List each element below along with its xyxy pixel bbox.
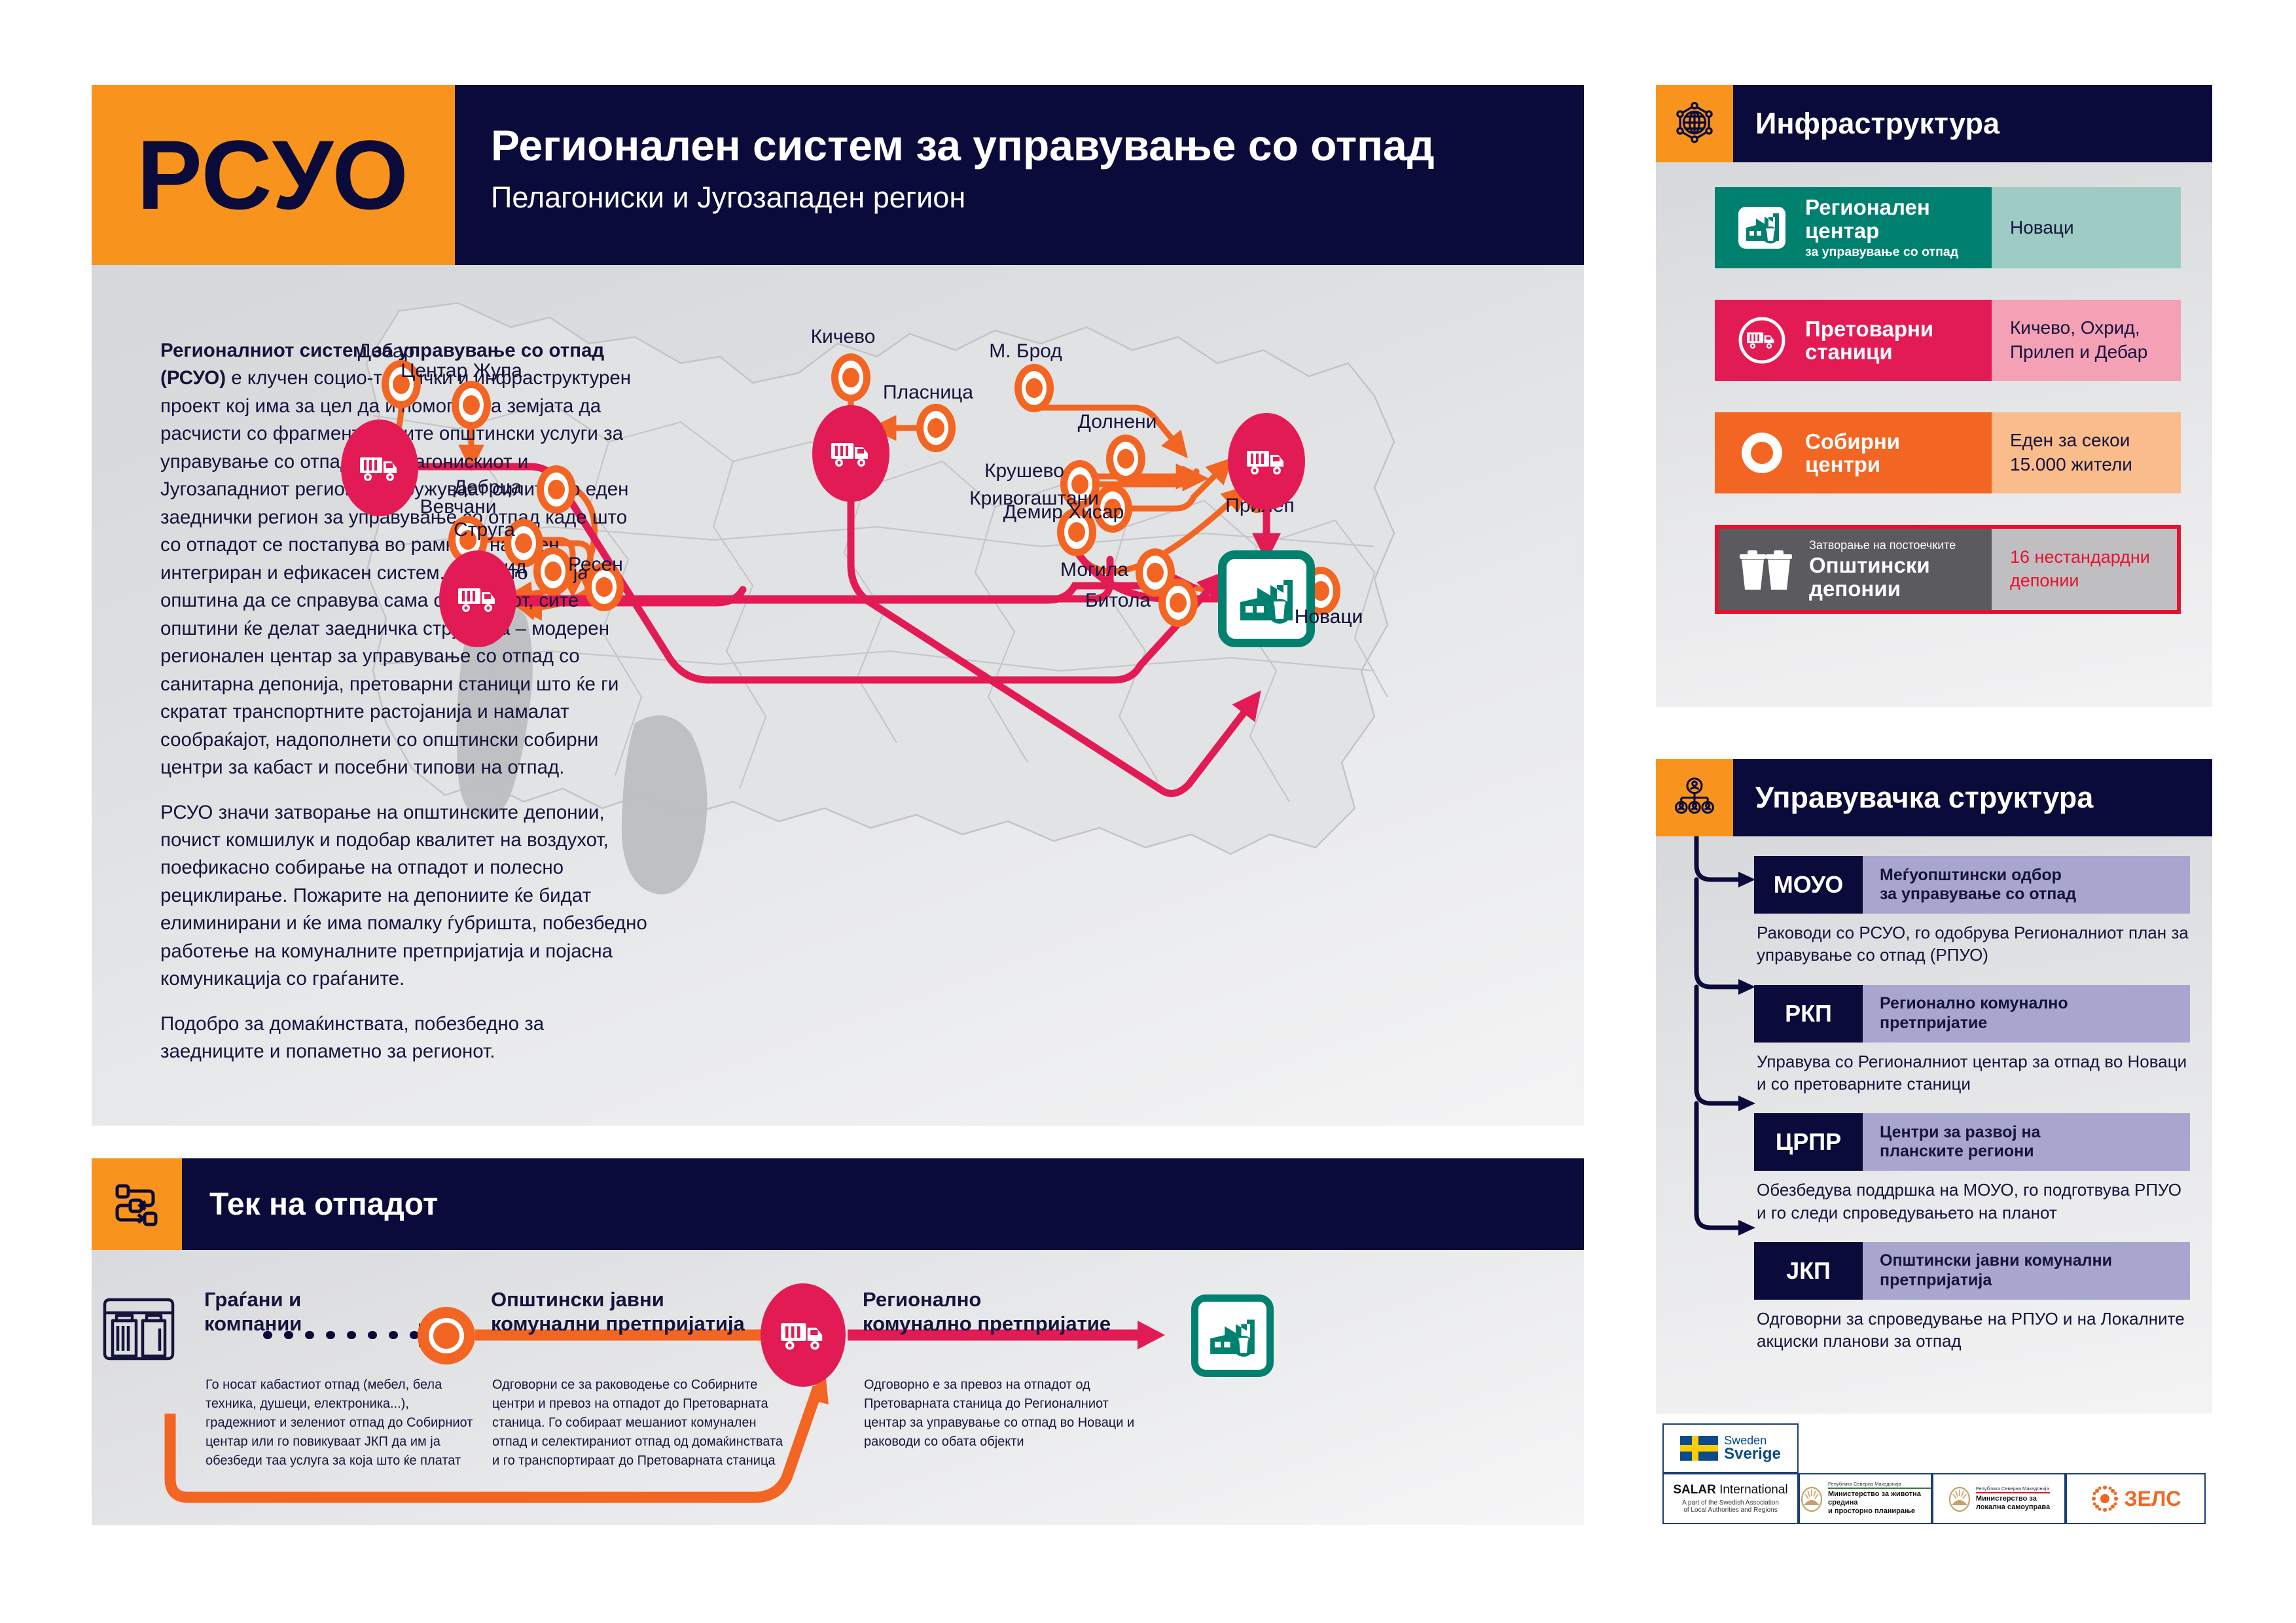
infra-sub: за управување со отпад	[1805, 245, 1958, 260]
infra-value-cell: Новаци	[1992, 187, 2181, 268]
logo-zels: ЗЕЛС	[2066, 1473, 2206, 1524]
mgmt-abbr: МОУО	[1754, 856, 1863, 914]
flow-band-title: Тек на отпадот	[209, 1186, 438, 1222]
mgmt-head: ЦРПР Центри за развој напланските регион…	[1754, 1113, 2190, 1171]
mgmt-full-wrap: Општински јавни комуналнипретпријатија	[1863, 1242, 2190, 1300]
mgmt-desc: Одговорни за спроведување на РПУО и на Л…	[1754, 1300, 2190, 1353]
infra-value: Кичево, Охрид,Прилеп и Дебар	[2010, 316, 2147, 365]
map-label: Дебар	[358, 340, 415, 363]
infrastructure-list: Регионаленцентар за управување со отпад …	[1656, 162, 2212, 614]
map-label: Центар Жупа	[401, 360, 522, 382]
page-subtitle: Пелагониски и Југозападен регион	[491, 181, 1584, 215]
ministry-block: Република Северна Македонија Министерств…	[1948, 1486, 2050, 1512]
infra-value: 16 нестандарднидепонии	[2010, 546, 2150, 592]
ring-dot-icon	[533, 547, 573, 596]
salar-label: SALAR International A part of the Swedis…	[1673, 1484, 1787, 1514]
map-label: Кичево	[811, 326, 876, 348]
mgmt-abbr: ЈКП	[1754, 1242, 1863, 1300]
infra-overline: Затворање на постоечките	[1809, 539, 1956, 552]
mgmt-full-name: Центри за развој напланските региони	[1880, 1123, 2040, 1162]
trash-bins-icon	[1732, 545, 1800, 594]
map-label-novaci: Новаци	[1295, 606, 1363, 628]
infrastructure-band: Инфраструктура	[1656, 85, 2212, 162]
collection-point-marker[interactable]	[533, 547, 573, 596]
infra-row-municipal-landfills[interactable]: Затворање на постоечките Општинскидепони…	[1715, 525, 2181, 614]
globe-network-icon	[1656, 85, 1733, 162]
waste-flow-panel: Тек на отпадот	[92, 1158, 1584, 1525]
logo-sweden: Sweden Sverige	[1662, 1423, 1799, 1473]
flow-stage-desc: Одговорни се за раководење со Собирните …	[492, 1376, 787, 1471]
factory-icon	[1728, 204, 1796, 251]
logo-ministry-environment: Република Северна Македонија Министерств…	[1799, 1473, 1932, 1524]
rsuo-logo: РСУО	[92, 85, 455, 265]
regional-center-marker[interactable]	[1191, 1294, 1274, 1377]
infra-row-label: Регионаленцентар за управување со отпад	[1715, 187, 1992, 268]
salar-italic: International	[1719, 1483, 1788, 1497]
partner-logos: Sweden Sverige SALAR International A par…	[1662, 1423, 2206, 1528]
management-band: Управувачка структура	[1656, 759, 2212, 836]
flow-stage-rkp-desc-wrap: Одговорно е за превоз на отпадот од Прет…	[864, 1366, 1139, 1452]
flow-stage-desc: Одговорно е за превоз на отпадот од Прет…	[864, 1376, 1139, 1452]
intro-paragraph-3: Подобро за домаќинствата, побезбедно за …	[160, 1010, 648, 1066]
ring-dot-icon	[916, 404, 956, 452]
ministry-text: Република Северна Македонија Министерств…	[1828, 1481, 1931, 1516]
collection-point-marker[interactable]	[1106, 435, 1145, 483]
main-panel: РСУО Регионален систем за управување со …	[92, 85, 1584, 1126]
flow-stage-desc: Го носат кабастиот отпад (мебел, бела те…	[206, 1376, 480, 1471]
transfer-station-ohrid[interactable]	[439, 550, 516, 647]
flow-stage-citizens-desc-wrap: Го носат кабастиот отпад (мебел, бела те…	[206, 1366, 480, 1471]
management-title: Управувачка структура	[1755, 781, 2093, 815]
infra-row-collection-centers[interactable]: Собирницентри Еден за секои15.000 жители	[1715, 412, 2181, 493]
map-label: Струга	[454, 519, 515, 541]
infra-value-cell: Кичево, Охрид,Прилеп и Дебар	[1992, 300, 2181, 381]
management-band-body: Управувачка структура	[1733, 759, 2212, 836]
mgmt-full-name: Меѓуопштински одборза управување со отпа…	[1880, 866, 2076, 904]
infra-value-cell: Еден за секои15.000 жители	[1992, 412, 2181, 493]
salar-bold: SALAR	[1673, 1483, 1719, 1497]
regional-center-novaci[interactable]	[1218, 550, 1315, 647]
page-header: РСУО Регионален систем за управување со …	[92, 85, 1584, 265]
infra-row-label: Претоварнистаници	[1715, 300, 1992, 381]
map-label: Крушево	[984, 460, 1064, 482]
ring-dot-icon	[1728, 427, 1796, 479]
mgmt-full-wrap: Центри за развој напланските региони	[1863, 1113, 2190, 1171]
factory-icon	[1207, 1314, 1258, 1357]
mgmt-head: ЈКП Општински јавни комуналнипретпријати…	[1754, 1242, 2190, 1300]
ministry-country: Република Северна Македонија	[1976, 1486, 2050, 1491]
intro-paragraph-2: РСУО значи затворање на општинските депо…	[160, 799, 648, 993]
mgmt-full-name: Регионално комуналнопретпријатие	[1880, 994, 2068, 1033]
flow-stage-rkp: Регионалнокомунално претпријатие	[863, 1288, 1144, 1336]
truck-icon	[1228, 413, 1305, 510]
ministry-block: Република Северна Македонија Министерств…	[1800, 1481, 1931, 1516]
infra-text: Затворање на постоечките Општинскидепони…	[1800, 539, 1956, 600]
management-structure-panel: Управувачка структура	[1656, 759, 2212, 1414]
transfer-station-marker[interactable]	[761, 1283, 846, 1387]
flow-stage-jkp-desc-wrap: Одговорни се за раководење со Собирните …	[492, 1366, 787, 1471]
mgmt-desc: Обезбедува поддршка на МОУО, го подготву…	[1754, 1171, 2190, 1224]
ministry-name: Министерство за животна срединаи простор…	[1828, 1490, 1931, 1516]
flow-body: Граѓани икомпании Го носат кабастиот отп…	[92, 1250, 1584, 1525]
infra-name: Регионаленцентар	[1805, 196, 1958, 242]
ring-dot-icon	[1158, 579, 1198, 627]
ring-dot-icon	[1106, 435, 1145, 483]
infra-text: Собирницентри	[1796, 430, 1900, 476]
salar-subtitle: A part of the Swedish Associationof Loca…	[1673, 1499, 1787, 1514]
ministry-rule	[1976, 1492, 2050, 1493]
map-label: Демир Хисар	[1003, 501, 1124, 524]
coat-of-arms-icon	[1800, 1486, 1823, 1512]
collection-point-marker[interactable]	[1014, 364, 1054, 412]
infra-row-label: Собирницентри	[1715, 412, 1992, 493]
citizens-bins-icon	[99, 1293, 178, 1367]
mgmt-abbr: ЦРПР	[1754, 1113, 1863, 1171]
ring-dot-icon	[537, 465, 576, 514]
map-label: Дебрца	[454, 476, 522, 499]
infra-text: Претоварнистаници	[1796, 317, 1933, 364]
sweden-flag-icon	[1680, 1436, 1718, 1461]
transfer-station-prilep[interactable]	[1228, 413, 1305, 510]
mgmt-item-crpr[interactable]: ЦРПР Центри за развој напланските регион…	[1754, 1113, 2190, 1224]
map-label: Пласница	[883, 382, 973, 404]
mgmt-item-rkp[interactable]: РКП Регионално комуналнопретпријатие Упр…	[1754, 985, 2190, 1096]
infra-text: Регионаленцентар за управување со отпад	[1796, 196, 1958, 260]
ring-dot-icon	[1014, 364, 1054, 412]
ministry-name: Министерство залокална самоуправа	[1976, 1495, 2050, 1512]
truck-icon	[341, 419, 418, 516]
map-label: Могила	[1060, 559, 1128, 581]
truck-icon	[812, 405, 889, 502]
management-items: МОУО Меѓуопштински одборза управување со…	[1656, 836, 2212, 1412]
zels-label: ЗЕЛС	[2125, 1487, 2181, 1511]
infrastructure-band-body: Инфраструктура	[1733, 85, 2212, 162]
infra-row-regional-center[interactable]: Регионаленцентар за управување со отпад …	[1715, 187, 2181, 268]
infra-value-cell: 16 нестандарднидепонии	[1992, 529, 2177, 610]
sun-burst-icon	[2090, 1484, 2119, 1513]
mgmt-desc: Управува со Регионалниот центар за отпад…	[1754, 1043, 2190, 1096]
map-area: Регионалниот систем за управување со отп…	[92, 265, 1584, 1126]
mgmt-full-name: Општински јавни комуналнипретпријатија	[1880, 1251, 2112, 1290]
collection-point-marker[interactable]	[916, 404, 956, 452]
factory-icon	[1218, 550, 1315, 647]
truck-icon	[439, 550, 516, 647]
logo-salar: SALAR International A part of the Swedis…	[1662, 1473, 1799, 1524]
flow-band: Тек на отпадот	[92, 1158, 1584, 1250]
mgmt-item-mouo[interactable]: МОУО Меѓуопштински одборза управување со…	[1754, 856, 2190, 967]
collection-point-marker[interactable]	[1158, 579, 1198, 627]
flow-stage-title: Општински јавникомунални претпријатија	[491, 1288, 779, 1336]
infra-row-label: Затворање на постоечките Општинскидепони…	[1719, 529, 1992, 610]
collection-point-marker[interactable]	[831, 353, 870, 402]
infra-value: Новаци	[2010, 216, 2074, 240]
collection-point-marker[interactable]	[537, 465, 576, 514]
map-label: Вевчани	[420, 496, 497, 518]
flow-stage-jkp: Општински јавникомунални претпријатија	[491, 1288, 779, 1336]
ring-dot-icon	[452, 381, 491, 429]
truck-icon	[780, 1317, 827, 1353]
mgmt-item-jkp[interactable]: ЈКП Општински јавни комуналнипретпријати…	[1754, 1242, 2190, 1353]
transfer-station-kicevo[interactable]	[812, 405, 889, 502]
map-label: М. Брод	[989, 340, 1062, 363]
coat-of-arms-icon	[1948, 1486, 1971, 1512]
map-label: Ресен	[568, 554, 623, 576]
mgmt-head: МОУО Меѓуопштински одборза управување со…	[1754, 856, 2190, 914]
infra-row-transfer-stations[interactable]: Претоварнистаници Кичево, Охрид,Прилеп и…	[1715, 300, 2181, 381]
ministry-country: Република Северна Македонија	[1828, 1481, 1931, 1487]
infographic-page: РСУО Регионален систем за управување со …	[0, 0, 2296, 1623]
infra-name: Општинскидепонии	[1809, 554, 1956, 600]
map-label: Долнени	[1078, 411, 1157, 433]
ministry-rule	[1828, 1488, 1931, 1489]
collection-point-marker[interactable]	[452, 381, 491, 429]
flow-band-body: Тек на отпадот	[182, 1158, 1584, 1250]
page-title: Регионален систем за управување со отпад	[491, 123, 1584, 169]
header-text-block: Регионален систем за управување со отпад…	[455, 85, 1584, 265]
logo-ministry-local-government: Република Северна Македонија Министерств…	[1932, 1473, 2066, 1524]
infrastructure-title: Инфраструктура	[1755, 107, 2000, 141]
mgmt-abbr: РКП	[1754, 985, 1863, 1043]
salar-title: SALAR International	[1673, 1484, 1787, 1497]
transfer-station-debar[interactable]	[341, 419, 418, 516]
flow-stage-title: Регионалнокомунално претпријатие	[863, 1288, 1144, 1336]
map-label: Битола	[1085, 590, 1151, 612]
org-chart-icon	[1656, 759, 1733, 836]
infra-name: Собирницентри	[1805, 430, 1900, 476]
infrastructure-panel: Инфраструктура	[1656, 85, 2212, 707]
mgmt-full-wrap: Регионално комуналнопретпријатие	[1863, 985, 2190, 1043]
mgmt-head: РКП Регионално комуналнопретпријатие	[1754, 985, 2190, 1043]
infra-value: Еден за секои15.000 жители	[2010, 429, 2132, 477]
truck-circle-icon	[1728, 313, 1796, 367]
collection-center-marker[interactable]	[418, 1307, 475, 1364]
flow-icon	[92, 1158, 182, 1250]
sweden-sv: Sverige	[1724, 1446, 1781, 1462]
mgmt-desc: Раководи со РСУО, го одобрува Регионални…	[1754, 914, 2190, 967]
zels-block: ЗЕЛС	[2090, 1484, 2181, 1513]
ministry-text: Република Северна Македонија Министерств…	[1976, 1486, 2050, 1512]
infra-name: Претоварнистаници	[1805, 317, 1933, 364]
ring-dot-icon	[831, 353, 870, 402]
sweden-label: Sweden Sverige	[1724, 1435, 1781, 1462]
mgmt-full-wrap: Меѓуопштински одборза управување со отпа…	[1863, 856, 2190, 914]
